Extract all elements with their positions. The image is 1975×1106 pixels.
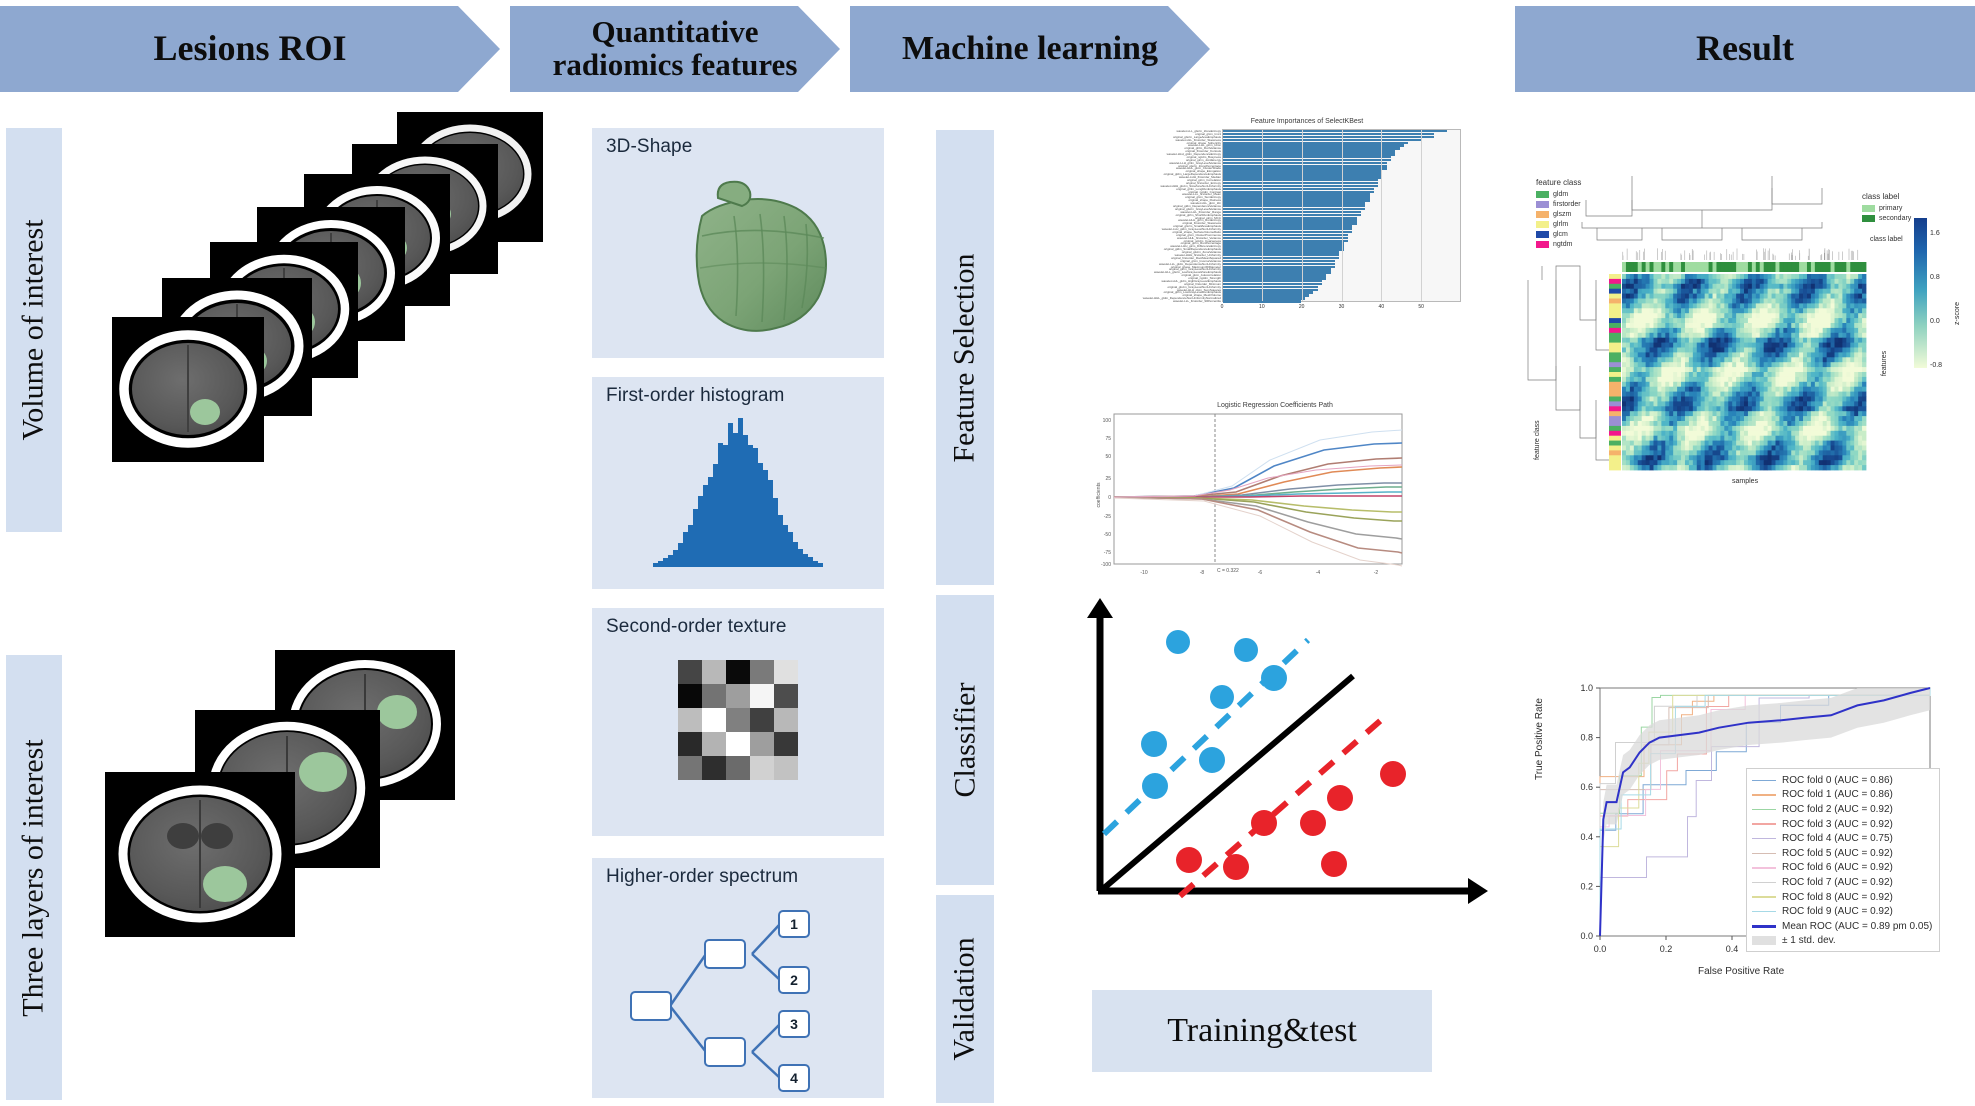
heatmap-cell: [1811, 465, 1815, 470]
heatmap-cell: [1740, 460, 1744, 465]
heatmap-cell: [1799, 446, 1803, 451]
heatmap-cell: [1642, 465, 1646, 470]
roc-legend-item: ROC fold 6 (AUC = 0.92): [1752, 861, 1934, 876]
heatmap-cell: [1819, 289, 1823, 294]
heatmap-cell: [1838, 460, 1842, 465]
class-label-cell: [1642, 262, 1646, 272]
heatmap-cell: [1689, 421, 1693, 426]
heatmap-cell: [1720, 318, 1724, 323]
heatmap-cell: [1713, 436, 1717, 441]
heatmap-cell: [1677, 323, 1681, 328]
heatmap-cell: [1657, 382, 1661, 387]
heatmap-cell: [1787, 274, 1791, 279]
heatmap-cell: [1681, 416, 1685, 421]
heatmap-cell: [1736, 377, 1740, 382]
heatmap-cell: [1638, 294, 1642, 299]
heatmap-cell: [1713, 323, 1717, 328]
heatmap-cell: [1673, 387, 1677, 392]
heatmap-cell: [1815, 284, 1819, 289]
heatmap-cell: [1799, 338, 1803, 343]
heatmap-cell: [1642, 392, 1646, 397]
heatmap-cell: [1697, 323, 1701, 328]
heatmap-cell: [1858, 392, 1862, 397]
heatmap-cell: [1846, 450, 1850, 455]
roc-legend-swatch: [1752, 936, 1776, 945]
heatmap-cell: [1701, 333, 1705, 338]
heatmap-cell: [1642, 299, 1646, 304]
heatmap-cell: [1799, 343, 1803, 348]
heatmap-cell: [1835, 416, 1839, 421]
heatmap-cell: [1653, 460, 1657, 465]
roc-legend-swatch: [1752, 780, 1776, 782]
heatmap-cell: [1642, 367, 1646, 372]
heatmap-cell: [1819, 431, 1823, 436]
heatmap-cell: [1673, 416, 1677, 421]
heatmap-cell: [1842, 397, 1846, 402]
heatmap-cell: [1775, 352, 1779, 357]
heatmap-cell: [1787, 362, 1791, 367]
heatmap-cell: [1835, 294, 1839, 299]
heatmap-cell: [1858, 416, 1862, 421]
heatmap-cell: [1685, 377, 1689, 382]
heatmap-cell: [1795, 431, 1799, 436]
heatmap-cell: [1626, 416, 1630, 421]
heatmap-cell: [1811, 338, 1815, 343]
heatmap-cell: [1787, 446, 1791, 451]
heatmap-cell: [1811, 401, 1815, 406]
heatmap-cell: [1748, 387, 1752, 392]
feature-class-cell: [1609, 303, 1621, 308]
heatmap-cell: [1842, 348, 1846, 353]
heatmap-cell: [1638, 328, 1642, 333]
heatmap-cell: [1626, 313, 1630, 318]
heatmap-cell: [1709, 299, 1713, 304]
feature-class-cell: [1609, 308, 1621, 313]
heatmap-cell: [1740, 401, 1744, 406]
heatmap-cell: [1760, 460, 1764, 465]
heatmap-cell: [1634, 274, 1638, 279]
heatmap-cell: [1827, 338, 1831, 343]
heatmap-cell: [1685, 357, 1689, 362]
heatmap-cell: [1744, 362, 1748, 367]
heatmap-cell: [1815, 397, 1819, 402]
heatmap-cell: [1772, 348, 1776, 353]
heatmap-cell: [1713, 450, 1717, 455]
svg-text:coefficients: coefficients: [1096, 482, 1102, 507]
ct-slice: [112, 317, 264, 462]
heatmap-cell: [1728, 328, 1732, 333]
heatmap-cell: [1775, 460, 1779, 465]
banner-step-label: Lesions ROI: [153, 30, 346, 68]
heatmap-cell: [1744, 416, 1748, 421]
heatmap-cell: [1803, 431, 1807, 436]
heatmap-cell: [1709, 279, 1713, 284]
heatmap-cell: [1842, 279, 1846, 284]
heatmap-cell: [1838, 328, 1842, 333]
heatmap-cell: [1831, 401, 1835, 406]
heatmap-cell: [1803, 372, 1807, 377]
heatmap-cell: [1756, 294, 1760, 299]
heatmap-cell: [1772, 318, 1776, 323]
heatmap-cell: [1673, 333, 1677, 338]
heatmap-cell: [1850, 367, 1854, 372]
heatmap-cell: [1807, 446, 1811, 451]
heatmap-cell: [1653, 294, 1657, 299]
heatmap-cell: [1630, 382, 1634, 387]
feature-class-cell: [1609, 318, 1621, 323]
heatmap-cell: [1838, 348, 1842, 353]
clustermap-x-axis-label: samples: [1732, 478, 1758, 485]
heatmap-cell: [1642, 338, 1646, 343]
heatmap-cell: [1646, 338, 1650, 343]
heatmap-cell: [1795, 328, 1799, 333]
heatmap-cell: [1642, 436, 1646, 441]
heatmap-cell: [1815, 392, 1819, 397]
heatmap-cell: [1858, 401, 1862, 406]
heatmap-cell: [1799, 377, 1803, 382]
heatmap-cell: [1697, 279, 1701, 284]
heatmap-cell: [1661, 313, 1665, 318]
heatmap-cell: [1811, 362, 1815, 367]
heatmap-cell: [1838, 401, 1842, 406]
heatmap-cell: [1791, 441, 1795, 446]
heatmap-cell: [1846, 392, 1850, 397]
heatmap-cell: [1661, 441, 1665, 446]
heatmap-cell: [1842, 436, 1846, 441]
heatmap-cell: [1732, 289, 1736, 294]
tree-node-branch-bottom: [704, 1037, 746, 1067]
heatmap-cell: [1732, 357, 1736, 362]
heatmap-cell: [1646, 460, 1650, 465]
heatmap-cell: [1850, 382, 1854, 387]
feature-panel-first-order-histogram: First-order histogram: [592, 377, 884, 589]
heatmap-cell: [1689, 343, 1693, 348]
heatmap-cell: [1811, 318, 1815, 323]
heatmap-cell: [1846, 362, 1850, 367]
heatmap-cell: [1693, 411, 1697, 416]
heatmap-cell: [1775, 274, 1779, 279]
heatmap-cell: [1772, 274, 1776, 279]
heatmap-cell: [1681, 299, 1685, 304]
heatmap-cell: [1827, 367, 1831, 372]
heatmap-cell: [1799, 274, 1803, 279]
heatmap-cell: [1736, 416, 1740, 421]
heatmap-cell: [1689, 377, 1693, 382]
heatmap-cell: [1693, 450, 1697, 455]
heatmap-cell: [1736, 431, 1740, 436]
heatmap-cell: [1724, 436, 1728, 441]
heatmap-cell: [1850, 446, 1854, 451]
heatmap-cell: [1807, 436, 1811, 441]
heatmap-cell: [1831, 294, 1835, 299]
heatmap-cell: [1626, 333, 1630, 338]
heatmap-cell: [1650, 455, 1654, 460]
heatmap-cell: [1657, 411, 1661, 416]
heatmap-cell: [1787, 303, 1791, 308]
heatmap-cell: [1823, 382, 1827, 387]
heatmap-cell: [1791, 416, 1795, 421]
heatmap-cell: [1677, 367, 1681, 372]
heatmap-cell: [1807, 426, 1811, 431]
heatmap-cell: [1858, 352, 1862, 357]
heatmap-cell: [1795, 441, 1799, 446]
heatmap-cell: [1850, 377, 1854, 382]
heatmap-cell: [1709, 446, 1713, 451]
heatmap-cell: [1728, 450, 1732, 455]
heatmap-cell: [1701, 455, 1705, 460]
heatmap-cell: [1850, 352, 1854, 357]
heatmap-cell: [1835, 279, 1839, 284]
heatmap-cell: [1760, 416, 1764, 421]
heatmap-cell: [1701, 431, 1705, 436]
heatmap-cell: [1756, 367, 1760, 372]
heatmap-cell: [1858, 465, 1862, 470]
roc-legend-item: ROC fold 0 (AUC = 0.86): [1752, 773, 1934, 788]
heatmap-cell: [1858, 397, 1862, 402]
heatmap-cell: [1701, 338, 1705, 343]
heatmap-cell: [1673, 455, 1677, 460]
heatmap-cell: [1693, 294, 1697, 299]
heatmap-cell: [1642, 362, 1646, 367]
heatmap-cell: [1697, 460, 1701, 465]
heatmap-cell: [1791, 397, 1795, 402]
heatmap-cell: [1736, 465, 1740, 470]
heatmap-cell: [1744, 308, 1748, 313]
heatmap-cell: [1638, 303, 1642, 308]
heatmap-cell: [1638, 323, 1642, 328]
heatmap-cell: [1835, 426, 1839, 431]
heatmap-cell: [1736, 294, 1740, 299]
heatmap-cell: [1650, 333, 1654, 338]
heatmap-cell: [1701, 284, 1705, 289]
heatmap-cell: [1744, 294, 1748, 299]
heatmap-cell: [1665, 382, 1669, 387]
heatmap-cell: [1689, 455, 1693, 460]
heatmap-cell: [1807, 343, 1811, 348]
heatmap-cell: [1626, 460, 1630, 465]
heatmap-cell: [1736, 279, 1740, 284]
heatmap-cell: [1772, 343, 1776, 348]
3d-mesh-icon: [672, 176, 872, 346]
ct-slice-stack-volume: [112, 112, 582, 532]
heatmap-cell: [1764, 303, 1768, 308]
heatmap-cell: [1815, 367, 1819, 372]
heatmap-cell: [1854, 431, 1858, 436]
heatmap-cell: [1787, 308, 1791, 313]
heatmap-cell: [1724, 333, 1728, 338]
heatmap-cell: [1626, 343, 1630, 348]
texture-cell: [750, 708, 774, 732]
heatmap-cell: [1819, 274, 1823, 279]
heatmap-cell: [1657, 338, 1661, 343]
heatmap-cell: [1630, 387, 1634, 392]
heatmap-cell: [1858, 348, 1862, 353]
heatmap-cell: [1775, 333, 1779, 338]
heatmap-cell: [1673, 401, 1677, 406]
heatmap-cell: [1661, 382, 1665, 387]
heatmap-cell: [1831, 431, 1835, 436]
heatmap-cell: [1661, 387, 1665, 392]
heatmap-cell: [1646, 377, 1650, 382]
heatmap-cell: [1638, 377, 1642, 382]
heatmap-cell: [1752, 343, 1756, 348]
heatmap-cell: [1701, 406, 1705, 411]
heatmap-cell: [1728, 338, 1732, 343]
heatmap-cell: [1835, 436, 1839, 441]
heatmap-cell: [1653, 392, 1657, 397]
heatmap-cell: [1819, 343, 1823, 348]
heatmap-cell: [1732, 348, 1736, 353]
heatmap-cell: [1744, 299, 1748, 304]
heatmap-cell: [1740, 446, 1744, 451]
heatmap-cell: [1642, 313, 1646, 318]
heatmap-cell: [1807, 279, 1811, 284]
heatmap-cell: [1807, 303, 1811, 308]
heatmap-cell: [1803, 313, 1807, 318]
heatmap-cell: [1693, 308, 1697, 313]
class-label-cell: [1775, 262, 1779, 272]
heatmap-cell: [1626, 431, 1630, 436]
heatmap-cell: [1838, 284, 1842, 289]
heatmap-cell: [1626, 299, 1630, 304]
heatmap-cell: [1827, 401, 1831, 406]
heatmap-cell: [1764, 392, 1768, 397]
heatmap-cell: [1716, 460, 1720, 465]
heatmap-cell: [1720, 289, 1724, 294]
class-label-cell: [1799, 262, 1803, 272]
heatmap-cell: [1634, 284, 1638, 289]
heatmap-cell: [1701, 450, 1705, 455]
feature-panel-3d-shape: 3D-Shape: [592, 128, 884, 358]
heatmap-cell: [1701, 460, 1705, 465]
heatmap-cell: [1815, 450, 1819, 455]
heatmap-cell: [1775, 284, 1779, 289]
heatmap-cell: [1724, 450, 1728, 455]
heatmap-cell: [1642, 303, 1646, 308]
heatmap-cell: [1775, 441, 1779, 446]
heatmap-cell: [1768, 426, 1772, 431]
heatmap-cell: [1760, 303, 1764, 308]
heatmap-cell: [1819, 308, 1823, 313]
heatmap-cell: [1716, 313, 1720, 318]
heatmap-cell: [1815, 401, 1819, 406]
heatmap-cell: [1638, 279, 1642, 284]
heatmap-cell: [1803, 460, 1807, 465]
heatmap-cell: [1744, 352, 1748, 357]
heatmap-cell: [1842, 333, 1846, 338]
heatmap-cell: [1838, 299, 1842, 304]
feature-class-cell: [1609, 352, 1621, 357]
heatmap-cell: [1693, 460, 1697, 465]
heatmap-cell: [1795, 343, 1799, 348]
heatmap-cell: [1665, 352, 1669, 357]
heatmap-cell: [1689, 289, 1693, 294]
heatmap-cell: [1827, 382, 1831, 387]
heatmap-cell: [1807, 377, 1811, 382]
heatmap-cell: [1701, 401, 1705, 406]
heatmap-cell: [1630, 362, 1634, 367]
heatmap-cell: [1697, 289, 1701, 294]
heatmap-cell: [1716, 465, 1720, 470]
heatmap-cell: [1622, 446, 1626, 451]
heatmap-cell: [1756, 338, 1760, 343]
feature-class-cell: [1609, 289, 1621, 294]
heatmap-cell: [1685, 421, 1689, 426]
heatmap-cell: [1815, 338, 1819, 343]
heatmap-cell: [1681, 318, 1685, 323]
heatmap-cell: [1850, 294, 1854, 299]
heatmap-cell: [1858, 441, 1862, 446]
heatmap-cell: [1736, 426, 1740, 431]
roc-legend-label: ROC fold 7 (AUC = 0.92): [1782, 877, 1893, 888]
heatmap-cell: [1858, 308, 1862, 313]
heatmap-cell: [1744, 382, 1748, 387]
heatmap-cell: [1862, 357, 1866, 362]
heatmap-cell: [1665, 436, 1669, 441]
heatmap-cell: [1642, 372, 1646, 377]
heatmap-cell: [1728, 308, 1732, 313]
heatmap-cell: [1803, 397, 1807, 402]
heatmap-cell: [1665, 465, 1669, 470]
heatmap-cell: [1638, 274, 1642, 279]
logreg-canvas: C = 0.322 coefficients -10-8 -6-4-2 1007…: [1084, 400, 1466, 582]
heatmap-cell: [1630, 411, 1634, 416]
heatmap-cell: [1740, 431, 1744, 436]
heatmap-cell: [1764, 289, 1768, 294]
heatmap-cell: [1819, 318, 1823, 323]
heatmap-cell: [1638, 289, 1642, 294]
heatmap-cell: [1720, 303, 1724, 308]
heatmap-cell: [1764, 357, 1768, 362]
heatmap-cell: [1764, 377, 1768, 382]
heatmap-cell: [1685, 323, 1689, 328]
heatmap-cell: [1842, 352, 1846, 357]
heatmap-cell: [1653, 348, 1657, 353]
heatmap-cell: [1685, 465, 1689, 470]
heatmap-cell: [1720, 299, 1724, 304]
heatmap-cell: [1650, 299, 1654, 304]
heatmap-cell: [1791, 401, 1795, 406]
class-label-cell: [1657, 262, 1661, 272]
heatmap-cell: [1772, 367, 1776, 372]
heatmap-cell: [1858, 362, 1862, 367]
roc-legend-swatch: [1752, 882, 1776, 884]
heatmap-cell: [1689, 392, 1693, 397]
heatmap-cell: [1752, 294, 1756, 299]
heatmap-cell: [1862, 289, 1866, 294]
heatmap-cell: [1709, 392, 1713, 397]
radiomics-clustermap: feature class gldmfirstorderglszmglrlmgl…: [1522, 170, 1975, 500]
heatmap-cell: [1842, 406, 1846, 411]
class-label-cell: [1697, 262, 1701, 272]
heatmap-cell: [1783, 392, 1787, 397]
heatmap-cell: [1626, 406, 1630, 411]
heatmap-cell: [1626, 303, 1630, 308]
heatmap-cell: [1720, 313, 1724, 318]
texture-cell: [750, 732, 774, 756]
heatmap-cell: [1740, 343, 1744, 348]
heatmap-cell: [1705, 338, 1709, 343]
heatmap-cell: [1823, 401, 1827, 406]
heatmap-cell: [1689, 416, 1693, 421]
heatmap-cell: [1693, 465, 1697, 470]
texture-cell: [774, 732, 798, 756]
heatmap-cell: [1823, 279, 1827, 284]
heatmap-cell: [1744, 436, 1748, 441]
heatmap-cell: [1638, 333, 1642, 338]
heatmap-cell: [1657, 406, 1661, 411]
heatmap-cell: [1630, 333, 1634, 338]
